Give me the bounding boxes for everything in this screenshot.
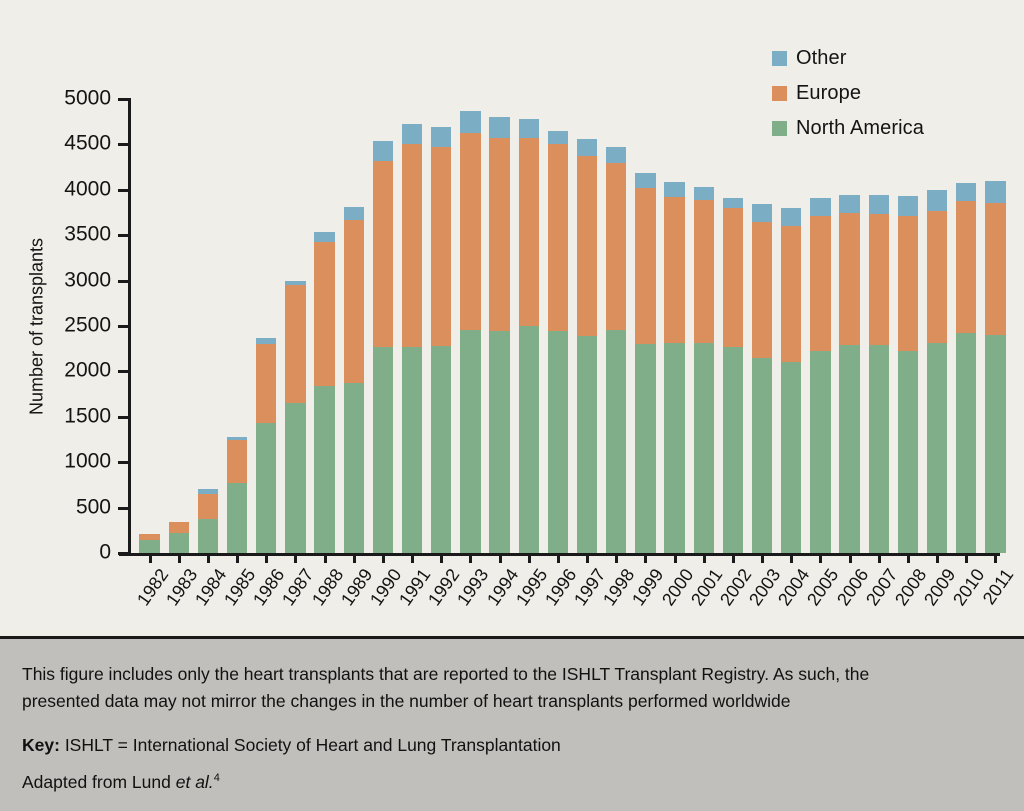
- x-tick: [644, 554, 647, 563]
- bar-2000[interactable]: [664, 182, 684, 553]
- bar-2001[interactable]: [694, 187, 714, 553]
- bar-segment-north-america: [577, 336, 597, 553]
- x-axis-labels: 1982198319841985198619871988198919901991…: [131, 565, 1006, 635]
- x-tick-label: 1982: [133, 565, 173, 610]
- legend-swatch-icon: [772, 51, 787, 66]
- y-tick-label: 2500: [64, 314, 111, 338]
- bar-1984[interactable]: [198, 489, 218, 553]
- bar-1990[interactable]: [373, 141, 393, 553]
- bar-segment-north-america: [810, 351, 830, 553]
- bar-segment-europe: [810, 216, 830, 351]
- bar-2008[interactable]: [898, 196, 918, 553]
- bar-segment-north-america: [489, 331, 509, 553]
- bar-segment-north-america: [606, 330, 626, 553]
- y-tick: [118, 280, 129, 283]
- bar-segment-north-america: [723, 347, 743, 553]
- x-tick: [965, 554, 968, 563]
- bar-1998[interactable]: [606, 147, 626, 553]
- bar-segment-north-america: [635, 344, 655, 553]
- y-tick: [118, 416, 129, 419]
- y-tick-label: 3500: [64, 223, 111, 247]
- y-tick-label: 4000: [64, 177, 111, 201]
- y-tick: [118, 325, 129, 328]
- bar-segment-north-america: [869, 345, 889, 553]
- bar-segment-europe: [227, 440, 247, 484]
- bar-segment-north-america: [898, 351, 918, 553]
- bar-segment-europe: [198, 494, 218, 519]
- bar-1982[interactable]: [139, 534, 159, 554]
- y-tick-label: 0: [99, 541, 111, 565]
- y-tick-label: 500: [76, 495, 111, 519]
- bar-2006[interactable]: [839, 195, 859, 553]
- bar-segment-north-america: [198, 519, 218, 553]
- bar-segment-north-america: [664, 343, 684, 553]
- bar-1989[interactable]: [344, 207, 364, 553]
- bar-segment-other: [694, 187, 714, 200]
- bar-segment-europe: [489, 138, 509, 331]
- bar-segment-north-america: [227, 483, 247, 553]
- bar-segment-north-america: [927, 343, 947, 553]
- x-tick: [207, 554, 210, 563]
- bar-segment-north-america: [694, 343, 714, 553]
- x-tick-label: 2010: [949, 565, 989, 610]
- x-tick: [907, 554, 910, 563]
- bar-1991[interactable]: [402, 124, 422, 553]
- bar-segment-north-america: [314, 386, 334, 553]
- bar-1987[interactable]: [285, 281, 305, 553]
- bar-segment-other: [985, 181, 1005, 203]
- bar-segment-europe: [839, 213, 859, 345]
- bar-1985[interactable]: [227, 437, 247, 553]
- y-tick-label: 1000: [64, 450, 111, 474]
- x-tick: [732, 554, 735, 563]
- x-tick: [440, 554, 443, 563]
- x-tick-label: 1989: [337, 565, 377, 610]
- x-tick: [557, 554, 560, 563]
- bar-segment-europe: [460, 133, 480, 330]
- bar-segment-north-america: [781, 362, 801, 553]
- bar-2002[interactable]: [723, 198, 743, 553]
- x-tick: [411, 554, 414, 563]
- x-tick-label: 1998: [599, 565, 639, 610]
- bar-segment-europe: [635, 188, 655, 344]
- x-tick: [294, 554, 297, 563]
- bar-segment-europe: [314, 242, 334, 386]
- x-tick-label: 1992: [424, 565, 464, 610]
- bar-segment-north-america: [169, 533, 189, 553]
- bar-segment-europe: [985, 203, 1005, 335]
- x-tick-label: 2007: [862, 565, 902, 610]
- x-tick-label: 1990: [366, 565, 406, 610]
- bar-segment-europe: [431, 147, 451, 346]
- bar-segment-north-america: [548, 331, 568, 553]
- x-tick-label: 1991: [395, 565, 435, 610]
- y-tick: [118, 370, 129, 373]
- x-tick: [353, 554, 356, 563]
- bar-segment-europe: [752, 222, 772, 358]
- bar-segment-north-america: [752, 358, 772, 553]
- y-tick: [118, 507, 129, 510]
- bar-segment-other: [577, 139, 597, 155]
- bar-segment-europe: [256, 344, 276, 423]
- bar-1995[interactable]: [519, 119, 539, 553]
- figure-root: Number of transplants OtherEuropeNorth A…: [0, 0, 1024, 811]
- x-tick-label: 2002: [716, 565, 756, 610]
- bar-segment-europe: [956, 201, 976, 333]
- bar-segment-europe: [898, 216, 918, 351]
- bar-segment-north-america: [285, 403, 305, 553]
- bar-segment-other: [839, 195, 859, 213]
- caption-key-prefix: Key:: [22, 735, 60, 755]
- x-tick-label: 2011: [979, 565, 1018, 609]
- bar-segment-north-america: [519, 326, 539, 553]
- caption-source-prefix: Adapted from Lund: [22, 772, 171, 792]
- bar-segment-north-america: [373, 347, 393, 553]
- y-tick-label: 1500: [64, 404, 111, 428]
- bar-segment-europe: [869, 214, 889, 344]
- x-tick: [236, 554, 239, 563]
- bar-segment-north-america: [839, 345, 859, 553]
- x-tick: [994, 554, 997, 563]
- bar-segment-other: [927, 190, 947, 211]
- plot-area: 0500100015002000250030003500400045005000: [131, 99, 1006, 553]
- bar-segment-other: [635, 173, 655, 188]
- x-tick: [178, 554, 181, 563]
- bar-segment-other: [898, 196, 918, 216]
- bar-1996[interactable]: [548, 131, 568, 553]
- x-tick-label: 2008: [891, 565, 931, 610]
- x-tick-label: 1984: [191, 565, 231, 610]
- bar-segment-other: [956, 183, 976, 201]
- x-tick-label: 2004: [774, 565, 814, 610]
- bar-2007[interactable]: [869, 195, 889, 553]
- x-tick-label: 1983: [162, 565, 202, 610]
- bar-2011[interactable]: [985, 181, 1005, 553]
- x-tick: [499, 554, 502, 563]
- x-tick-label: 1986: [249, 565, 289, 610]
- bar-segment-europe: [373, 161, 393, 347]
- bar-segment-other: [781, 208, 801, 226]
- bar-2003[interactable]: [752, 204, 772, 553]
- bar-segment-other: [402, 124, 422, 144]
- x-tick-label: 2009: [920, 565, 960, 610]
- x-tick-label: 1985: [220, 565, 260, 610]
- x-tick: [469, 554, 472, 563]
- bar-1988[interactable]: [314, 232, 334, 553]
- bar-segment-europe: [139, 534, 159, 541]
- x-tick: [849, 554, 852, 563]
- bar-group: [131, 99, 1006, 553]
- bar-segment-other: [810, 198, 830, 215]
- bar-segment-other: [314, 232, 334, 242]
- bar-1983[interactable]: [169, 522, 189, 553]
- x-tick-label: 2005: [803, 565, 843, 610]
- bar-segment-europe: [402, 144, 422, 347]
- x-tick-label: 1993: [453, 565, 493, 610]
- x-tick-label: 1999: [628, 565, 668, 610]
- chart-panel: Number of transplants OtherEuropeNorth A…: [0, 0, 1024, 639]
- bar-segment-other: [519, 119, 539, 139]
- bar-1992[interactable]: [431, 127, 451, 553]
- bar-segment-other: [431, 127, 451, 147]
- y-tick-label: 4500: [64, 132, 111, 156]
- bar-segment-europe: [519, 138, 539, 326]
- y-tick-label: 2000: [64, 359, 111, 383]
- bar-segment-europe: [606, 163, 626, 330]
- x-tick: [528, 554, 531, 563]
- bar-segment-north-america: [139, 540, 159, 553]
- bar-2005[interactable]: [810, 198, 830, 553]
- bar-segment-other: [752, 204, 772, 222]
- y-tick: [118, 143, 129, 146]
- x-tick-label: 1997: [570, 565, 610, 610]
- bar-segment-other: [869, 195, 889, 214]
- bar-2010[interactable]: [956, 183, 976, 553]
- legend-label: Other: [796, 48, 847, 68]
- y-tick: [118, 98, 129, 101]
- x-tick-label: 2000: [658, 565, 698, 610]
- bar-segment-europe: [723, 208, 743, 347]
- bar-segment-north-america: [460, 330, 480, 553]
- bar-1997[interactable]: [577, 139, 597, 553]
- x-tick: [586, 554, 589, 563]
- bar-segment-other: [344, 207, 364, 221]
- x-tick: [324, 554, 327, 563]
- y-tick-label: 3000: [64, 268, 111, 292]
- bar-segment-europe: [664, 197, 684, 343]
- x-tick: [936, 554, 939, 563]
- bar-segment-north-america: [985, 335, 1005, 553]
- x-tick-label: 1988: [308, 565, 348, 610]
- caption-source-italic: et al.: [176, 772, 214, 792]
- x-tick: [761, 554, 764, 563]
- y-axis-title: Number of transplants: [27, 117, 48, 537]
- caption-key: Key: ISHLT = International Society of He…: [22, 735, 996, 756]
- caption-source: Adapted from Lund et al.4: [22, 772, 996, 793]
- bar-segment-other: [373, 141, 393, 161]
- x-tick-label: 2001: [687, 565, 727, 610]
- x-tick: [703, 554, 706, 563]
- bar-segment-other: [664, 182, 684, 197]
- bar-segment-other: [723, 198, 743, 208]
- y-tick: [118, 234, 129, 237]
- x-tick: [819, 554, 822, 563]
- bar-segment-north-america: [402, 347, 422, 553]
- x-tick: [615, 554, 618, 563]
- bar-segment-europe: [548, 144, 568, 330]
- x-tick: [674, 554, 677, 563]
- bar-segment-europe: [169, 522, 189, 533]
- bar-segment-other: [489, 117, 509, 137]
- x-tick-label: 1996: [541, 565, 581, 610]
- bar-segment-north-america: [256, 423, 276, 553]
- bar-segment-other: [460, 111, 480, 133]
- bar-1994[interactable]: [489, 117, 509, 553]
- bar-segment-north-america: [431, 346, 451, 553]
- bar-segment-europe: [285, 285, 305, 403]
- x-tick: [265, 554, 268, 563]
- caption-paragraph: This figure includes only the heart tran…: [22, 661, 927, 715]
- x-tick: [790, 554, 793, 563]
- x-tick-label: 2006: [833, 565, 873, 610]
- bar-segment-other: [548, 131, 568, 145]
- legend-item-other[interactable]: Other: [772, 48, 924, 68]
- bar-segment-europe: [694, 200, 714, 343]
- bar-2004[interactable]: [781, 208, 801, 553]
- x-tick: [382, 554, 385, 563]
- x-tick: [149, 554, 152, 563]
- y-tick: [118, 461, 129, 464]
- bar-segment-europe: [344, 220, 364, 383]
- caption-panel: This figure includes only the heart tran…: [0, 639, 1024, 811]
- bar-segment-north-america: [344, 383, 364, 553]
- x-tick-label: 2003: [745, 565, 785, 610]
- y-tick: [118, 189, 129, 192]
- bar-1993[interactable]: [460, 111, 480, 553]
- bar-segment-north-america: [956, 333, 976, 553]
- bar-segment-europe: [781, 226, 801, 362]
- x-tick: [878, 554, 881, 563]
- x-tick-label: 1994: [483, 565, 523, 610]
- bar-1986[interactable]: [256, 338, 276, 553]
- x-tick-label: 1995: [512, 565, 552, 610]
- caption-key-text: ISHLT = International Society of Heart a…: [65, 735, 561, 755]
- bar-1999[interactable]: [635, 173, 655, 553]
- bar-2009[interactable]: [927, 190, 947, 553]
- x-tick-label: 1987: [278, 565, 318, 610]
- bar-segment-europe: [577, 156, 597, 337]
- y-tick-label: 5000: [64, 87, 111, 111]
- caption-source-superscript: 4: [214, 772, 220, 784]
- bar-segment-other: [606, 147, 626, 163]
- y-tick: [118, 552, 129, 555]
- bar-segment-europe: [927, 211, 947, 343]
